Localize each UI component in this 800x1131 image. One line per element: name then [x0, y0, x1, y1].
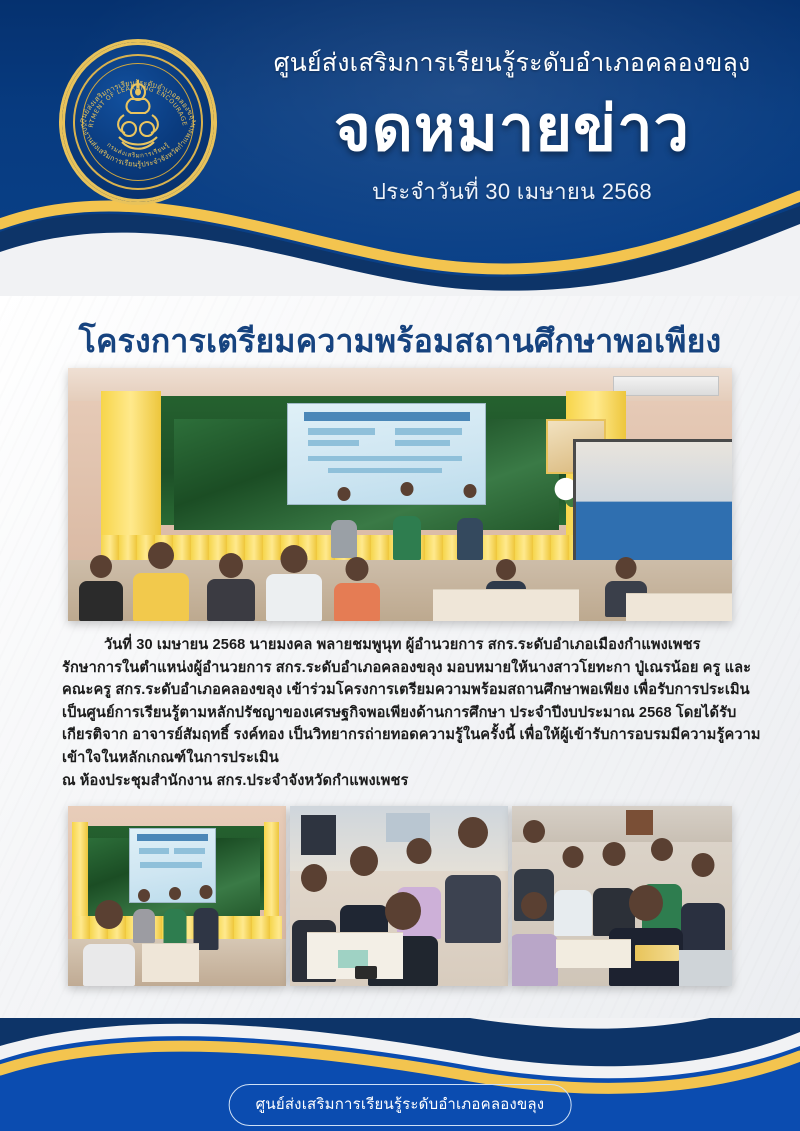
header-date: ประจำวันที่ 30 เมษายน 2568: [238, 174, 786, 209]
body-line: คณะครู สกร.ระดับอำเภอคลองขลุง เข้าร่วมโค…: [62, 679, 738, 702]
content-area: โครงการเตรียมความพร้อมสถานศึกษาพอเพียง: [0, 296, 800, 1024]
body-line: เป็นศูนย์การเรียนรู้ตามหลักปรัชญาของเศรษ…: [62, 702, 738, 725]
header-band: ศูนย์ส่งเสริมการเรียนรู้ระดับอำเภอคลองขล…: [0, 0, 800, 300]
uniform-logo-text: [635, 945, 679, 961]
body-line: เข้าใจในหลักเกณฑ์ในการประเมิน: [62, 747, 738, 770]
header-title: จดหมายข่าว: [238, 96, 786, 162]
photo-small-group-discussion-table: [290, 806, 508, 986]
body-line: เกียรติจาก อาจารย์สัมฤทธิ์ รงค์ทอง เป็นว…: [62, 724, 738, 747]
body-line: ณ ห้องประชุมสำนักงาน สกร.ประจำจังหวัดกำแ…: [62, 770, 738, 793]
project-title: โครงการเตรียมความพร้อมสถานศึกษาพอเพียง: [40, 316, 760, 367]
crown-emblem-icon: [107, 77, 169, 155]
photo-small-presenters-stage: [68, 806, 286, 986]
body-line: วันที่ 30 เมษายน 2568 นายมงคล พลายชมพูนุ…: [62, 634, 738, 657]
header-organization: ศูนย์ส่งเสริมการเรียนรู้ระดับอำเภอคลองขล…: [238, 48, 786, 79]
photo-main-seminar-hall: [68, 368, 732, 621]
body-line: รักษาการในตำแหน่งผู้อำนวยการ สกร.ระดับอำ…: [62, 657, 738, 680]
newsletter-page: ศูนย์ส่งเสริมการเรียนรู้ระดับอำเภอคลองขล…: [0, 0, 800, 1131]
photo-small-workshop-room: [512, 806, 732, 986]
article-body: วันที่ 30 เมษายน 2568 นายมงคล พลายชมพูนุ…: [62, 634, 738, 792]
footer-center-label: ศูนย์ส่งเสริมการเรียนรู้ระดับอำเภอคลองขล…: [229, 1084, 572, 1126]
official-seal-logo: ศูนย์ส่งเสริมการเรียนรู้ระดับอำเภอคลองขล…: [62, 42, 214, 202]
